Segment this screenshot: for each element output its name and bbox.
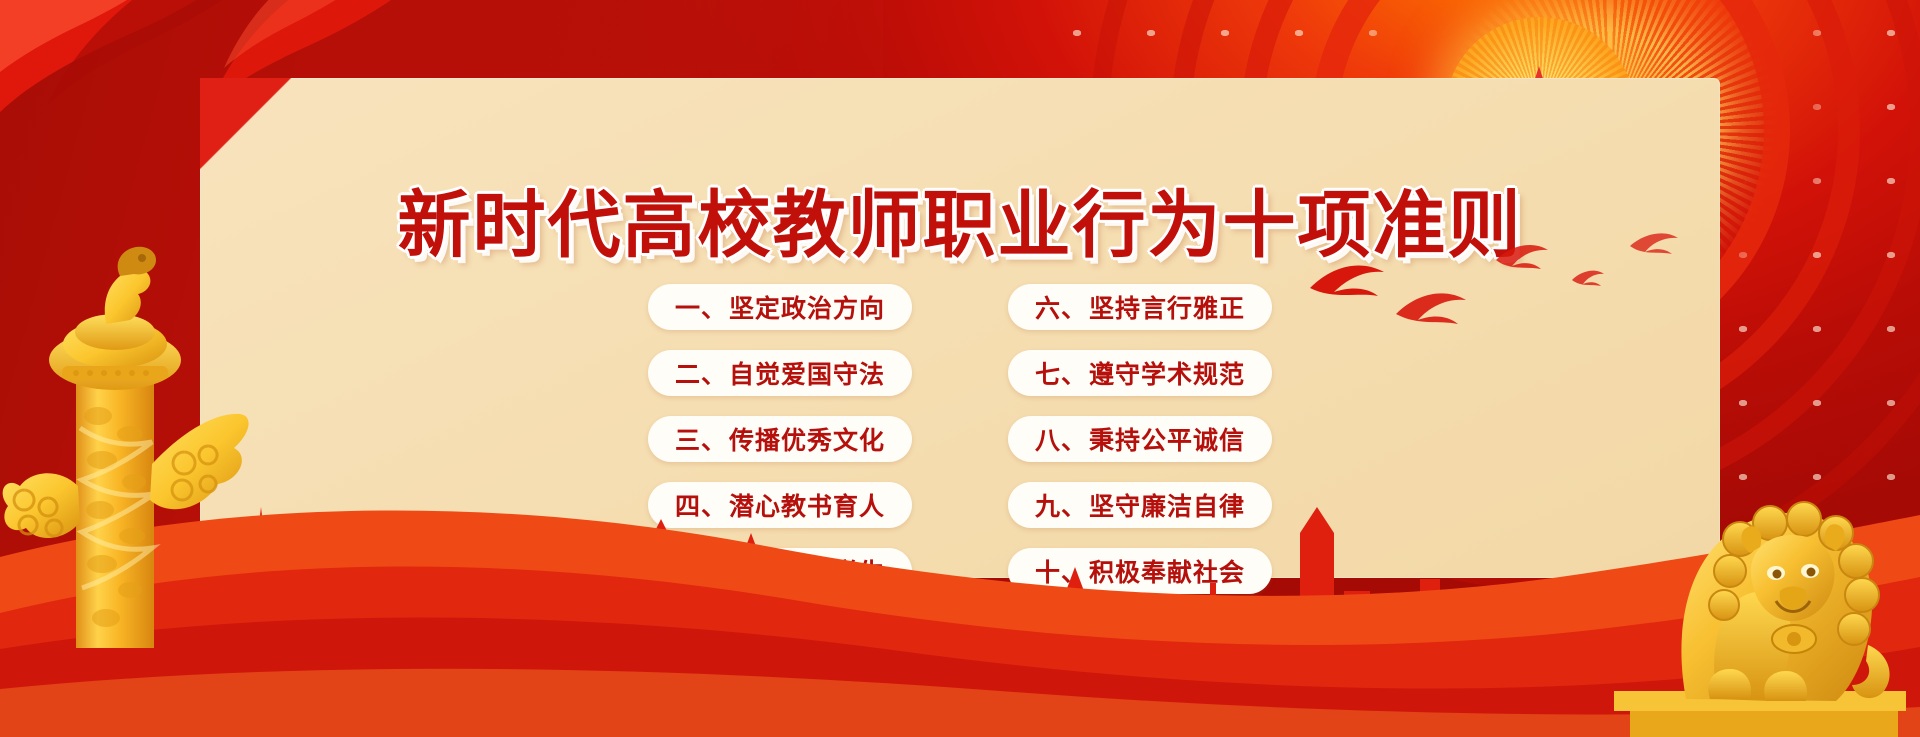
principle-item-6[interactable]: 六、 坚持言行雅正 <box>1008 284 1272 330</box>
golden-guardian-lion-icon <box>1590 413 1910 737</box>
banner-root: 新时代高校教师职业行为十项准则 一、 坚定政治方向 二、 自觉爱国守法 三、 传… <box>0 0 1920 737</box>
principle-label: 自觉爱国守法 <box>729 355 885 391</box>
principle-number: 六、 <box>1035 289 1087 325</box>
panel-corner-accent <box>200 78 292 170</box>
golden-huabiao-column-icon <box>2 228 252 648</box>
principle-label: 坚持言行雅正 <box>1089 289 1245 325</box>
flying-birds-icon <box>1300 230 1720 370</box>
principle-number: 七、 <box>1035 355 1087 391</box>
principle-item-7[interactable]: 七、 遵守学术规范 <box>1008 350 1272 396</box>
principle-number: 二、 <box>675 355 727 391</box>
principle-item-1[interactable]: 一、 坚定政治方向 <box>648 284 912 330</box>
principle-label: 坚定政治方向 <box>729 289 885 325</box>
principle-label: 遵守学术规范 <box>1089 355 1245 391</box>
principle-number: 一、 <box>675 289 727 325</box>
principle-item-2[interactable]: 二、 自觉爱国守法 <box>648 350 912 396</box>
